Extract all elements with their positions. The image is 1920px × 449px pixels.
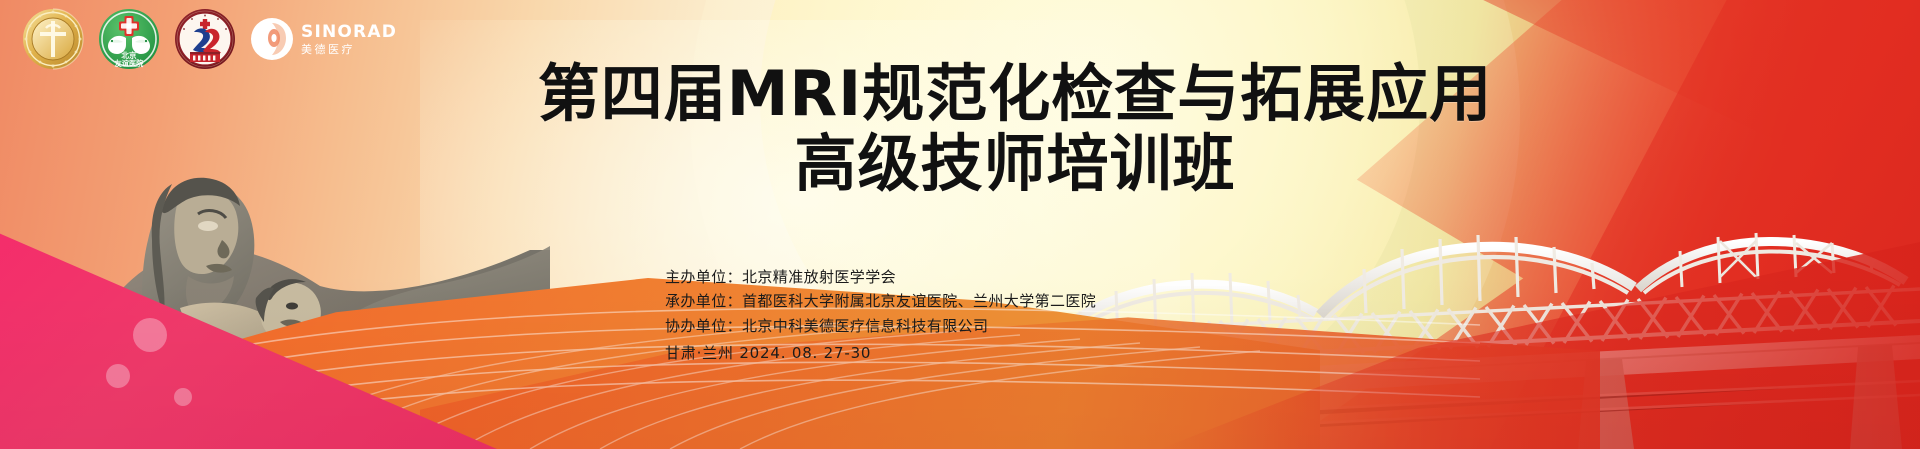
decor-dot-1 bbox=[133, 318, 167, 352]
organizer-info-block: 主办单位：北京精准放射医学学会 承办单位：首都医科大学附属北京友谊医院、兰州大学… bbox=[665, 265, 1096, 366]
logo-row: 北京 友谊医院 bbox=[22, 8, 397, 70]
sinorad-logo: SINORAD 美德医疗 bbox=[250, 8, 397, 70]
info-line-date-location: 甘肃·兰州 2024. 08. 27-30 bbox=[665, 341, 1096, 365]
gold-medal-logo bbox=[22, 8, 84, 70]
beijing-friendship-hospital-logo: 北京 友谊医院 bbox=[98, 8, 160, 70]
conference-banner: 北京 友谊医院 bbox=[0, 0, 1920, 449]
decor-dot-2 bbox=[106, 364, 130, 388]
info-line-host: 主办单位：北京精准放射医学学会 bbox=[665, 265, 1096, 289]
info-line-organizer: 承办单位：首都医科大学附属北京友谊医院、兰州大学第二医院 bbox=[665, 289, 1096, 313]
lanzhou-university-second-hospital-logo bbox=[174, 8, 236, 70]
info-line-coorganizer: 协办单位：北京中科美德医疗信息科技有限公司 bbox=[665, 314, 1096, 338]
decor-dot-3 bbox=[174, 388, 192, 406]
title-line-1: 第四届MRI规范化检查与拓展应用 bbox=[0, 62, 1920, 126]
sinorad-mark-icon bbox=[250, 17, 294, 61]
sinorad-cn-text: 美德医疗 bbox=[301, 44, 397, 55]
sinorad-en-text: SINORAD bbox=[301, 24, 397, 41]
svg-text:友谊医院: 友谊医院 bbox=[114, 59, 145, 68]
banner-title: 第四届MRI规范化检查与拓展应用 高级技师培训班 bbox=[0, 62, 1920, 196]
title-line-2: 高级技师培训班 bbox=[0, 132, 1920, 196]
